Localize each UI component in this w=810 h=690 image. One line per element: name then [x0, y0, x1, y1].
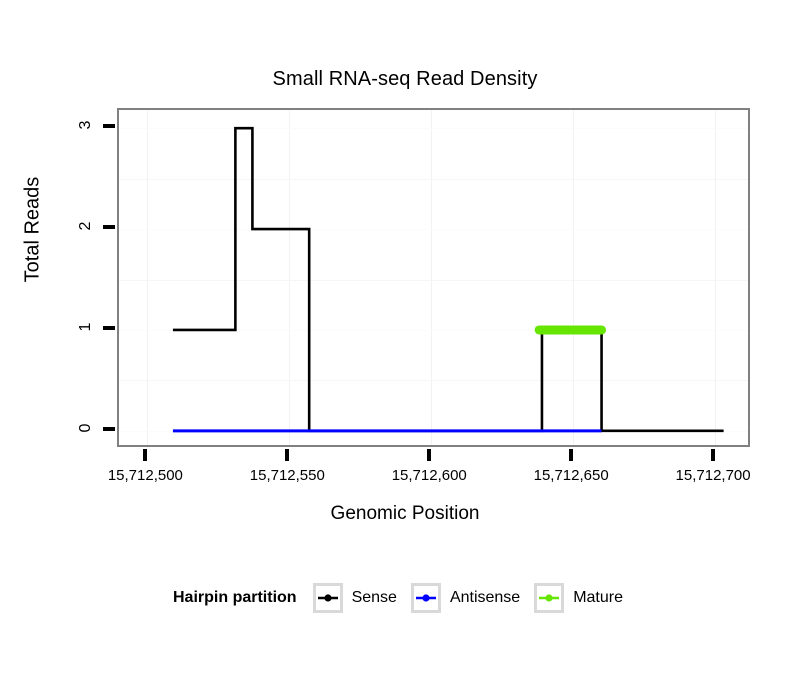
x-tick-label: 15,712,500	[75, 467, 215, 484]
legend-label: Mature	[573, 589, 623, 607]
chart-figure: Small RNA-seq Read Density Total Reads 0…	[0, 0, 810, 690]
x-axis-title: Genomic Position	[0, 503, 810, 525]
series-sense	[173, 128, 724, 431]
x-tick-mark	[143, 449, 147, 461]
x-tick-mark	[285, 449, 289, 461]
y-tick-label: 3	[77, 113, 95, 137]
y-tick-label: 2	[77, 214, 95, 238]
legend-label: Antisense	[450, 589, 520, 607]
y-tick-mark	[103, 124, 115, 128]
y-tick-mark	[103, 225, 115, 229]
legend-item-sense[interactable]: Sense	[313, 583, 397, 613]
x-tick-label: 15,712,550	[217, 467, 357, 484]
y-tick-mark	[103, 427, 115, 431]
legend-label: Sense	[352, 589, 397, 607]
y-tick-label: 0	[77, 416, 95, 440]
x-tick-mark	[711, 449, 715, 461]
data-series-layer	[119, 110, 752, 449]
x-tick-label: 15,712,700	[643, 467, 783, 484]
legend-key-icon	[534, 583, 564, 613]
y-tick-mark	[103, 326, 115, 330]
chart-title: Small RNA-seq Read Density	[0, 68, 810, 91]
legend-item-mature[interactable]: Mature	[534, 583, 623, 613]
legend-key-icon	[313, 583, 343, 613]
legend-item-antisense[interactable]: Antisense	[411, 583, 520, 613]
legend-key-icon	[411, 583, 441, 613]
y-tick-label: 1	[77, 315, 95, 339]
x-tick-label: 15,712,650	[501, 467, 641, 484]
x-tick-mark	[427, 449, 431, 461]
x-tick-label: 15,712,600	[359, 467, 499, 484]
plot-panel	[117, 108, 750, 447]
y-axis-title: Total Reads	[22, 140, 45, 320]
legend: Hairpin partition SenseAntisenseMature	[0, 583, 810, 613]
legend-items: SenseAntisenseMature	[313, 583, 637, 613]
legend-title: Hairpin partition	[173, 589, 297, 607]
x-tick-mark	[569, 449, 573, 461]
